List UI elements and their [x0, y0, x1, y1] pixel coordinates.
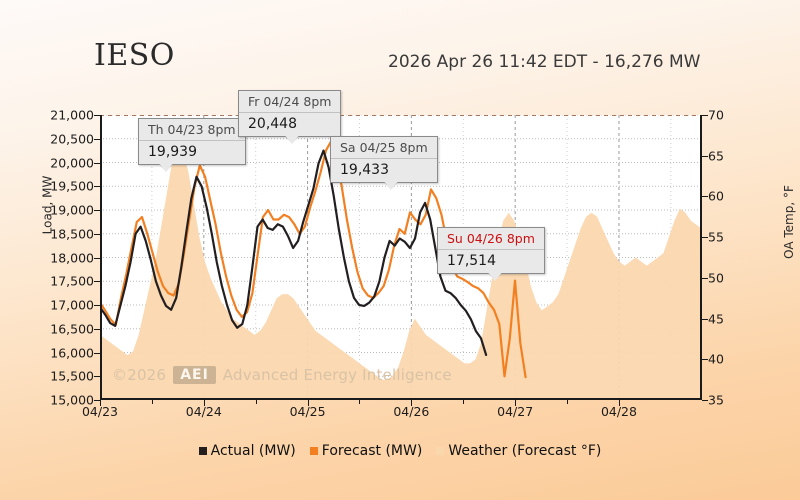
x-tick-label: 04/23	[82, 404, 118, 419]
x-tick-mark	[100, 400, 101, 406]
legend-label: Weather (Forecast °F)	[448, 443, 601, 459]
x-tick-label: 04/28	[601, 404, 637, 419]
plot-right-axis	[700, 115, 702, 400]
callout-value: 17,514	[438, 250, 544, 273]
watermark: ©2026 AEI Advanced Energy Intelligence	[112, 366, 452, 384]
x-tick-label: 04/25	[290, 404, 326, 419]
y2-tick-mark	[702, 278, 708, 279]
legend-swatch-icon	[199, 447, 207, 455]
y-tick-label: 19,000	[50, 203, 94, 218]
x-tick-label: 04/27	[497, 404, 533, 419]
x-tick-label: 04/24	[186, 404, 222, 419]
callout-value: 19,939	[139, 141, 245, 164]
y-tick-label: 16,500	[50, 321, 94, 336]
y2-tick-mark	[702, 196, 708, 197]
legend-item[interactable]: Forecast (MW)	[310, 443, 423, 459]
chart-subtitle: 2026 Apr 26 11:42 EDT - 16,276 MW	[388, 52, 700, 72]
callout-timestamp: Th 04/23 8pm	[139, 119, 245, 141]
y-tick-label: 15,500	[50, 369, 94, 384]
y2-tick-label: 70	[708, 108, 724, 123]
y-tick-label: 17,000	[50, 298, 94, 313]
y2-tick-mark	[702, 156, 708, 157]
callout-value: 19,433	[331, 159, 437, 182]
legend-label: Actual (MW)	[211, 443, 296, 459]
y-tick-label: 21,000	[50, 108, 94, 123]
x-tick-mark	[308, 400, 309, 406]
y-tick-label: 19,500	[50, 179, 94, 194]
y2-tick-label: 40	[708, 352, 724, 367]
x-tick-mark	[515, 400, 516, 406]
y-tick-label: 20,500	[50, 131, 94, 146]
x-minor-tick-mark	[359, 400, 360, 404]
legend-swatch-icon	[310, 447, 318, 455]
callout-timestamp: Fr 04/24 8pm	[239, 91, 340, 113]
y2-tick-mark	[702, 359, 708, 360]
x-minor-tick-mark	[256, 400, 257, 404]
y2-tick-mark	[702, 319, 708, 320]
x-minor-tick-mark	[463, 400, 464, 404]
x-minor-tick-mark	[152, 400, 153, 404]
plot-bottom-axis	[100, 398, 702, 400]
chart-screenshot: IESO 2026 Apr 26 11:42 EDT - 16,276 MW L…	[0, 0, 800, 500]
y2-tick-mark	[702, 115, 708, 116]
callout-timestamp: Su 04/26 8pm	[438, 228, 544, 250]
y2-tick-label: 35	[708, 393, 724, 408]
x-tick-mark	[204, 400, 205, 406]
y-tick-label: 20,000	[50, 155, 94, 170]
legend-label: Forecast (MW)	[322, 443, 423, 459]
y-tick-label: 17,500	[50, 274, 94, 289]
watermark-text: Advanced Energy Intelligence	[223, 366, 452, 384]
legend-item[interactable]: Actual (MW)	[199, 443, 296, 459]
data-callout[interactable]: Fr 04/24 8pm20,448	[238, 90, 341, 137]
data-callout[interactable]: Su 04/26 8pm17,514	[437, 227, 545, 274]
watermark-copyright: ©2026	[112, 366, 166, 384]
y-tick-label: 16,000	[50, 345, 94, 360]
y2-tick-mark	[702, 400, 708, 401]
plot-left-axis	[100, 115, 102, 400]
y-axis-label-right: OA Temp, °F	[782, 185, 796, 259]
x-tick-mark	[619, 400, 620, 406]
y-tick-label: 18,500	[50, 226, 94, 241]
page-title: IESO	[94, 38, 175, 73]
data-callout[interactable]: Th 04/23 8pm19,939	[138, 118, 246, 165]
y2-tick-label: 65	[708, 148, 724, 163]
plot-top-border	[100, 115, 702, 116]
legend-swatch-icon	[436, 447, 444, 455]
y2-tick-label: 60	[708, 189, 724, 204]
callout-value: 20,448	[239, 113, 340, 136]
x-tick-mark	[411, 400, 412, 406]
weather-area-series	[100, 148, 702, 400]
legend-item[interactable]: Weather (Forecast °F)	[436, 443, 601, 459]
data-callout[interactable]: Sa 04/25 8pm19,433	[330, 136, 438, 183]
x-tick-label: 04/26	[393, 404, 429, 419]
y2-tick-label: 50	[708, 270, 724, 285]
y2-tick-mark	[702, 237, 708, 238]
x-minor-tick-mark	[567, 400, 568, 404]
y2-tick-label: 45	[708, 311, 724, 326]
callout-timestamp: Sa 04/25 8pm	[331, 137, 437, 159]
watermark-badge: AEI	[173, 366, 216, 384]
chart-legend: Actual (MW)Forecast (MW)Weather (Forecas…	[0, 443, 800, 459]
y-tick-label: 18,000	[50, 250, 94, 265]
y2-tick-label: 55	[708, 230, 724, 245]
